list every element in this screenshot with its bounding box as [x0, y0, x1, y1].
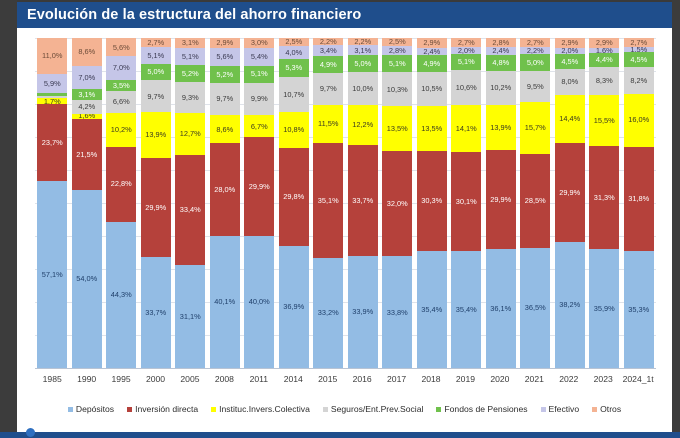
- bar-segment[interactable]: 10,0%: [348, 72, 378, 105]
- bar-column[interactable]: 2,9%2,0%4,5%8,0%14,4%29,9%38,2%: [555, 38, 585, 368]
- bar-segment-value: 5,9%: [44, 80, 61, 87]
- bar-segment[interactable]: 2,0%: [451, 47, 481, 54]
- bar-segment[interactable]: 10,2%: [486, 71, 516, 105]
- bar-segment-value: 4,4%: [596, 56, 613, 63]
- bar-segment-value: 35,4%: [456, 306, 477, 313]
- plot-inner: 11,0%5,9%1,7%23,7%57,1%8,6%7,0%3,1%4,2%1…: [35, 38, 656, 368]
- bar-segment[interactable]: 5,2%: [175, 65, 205, 82]
- bar-column[interactable]: 2,2%3,4%4,9%9,7%11,5%35,1%33,2%: [313, 38, 343, 368]
- bar-segment-value: 2,2%: [320, 38, 337, 45]
- bar-segment-value: 8,6%: [216, 126, 233, 133]
- bar-segment[interactable]: 8,3%: [589, 67, 619, 94]
- bar-segment-value: 29,8%: [283, 193, 304, 200]
- bar-segment-value: 5,0%: [354, 60, 371, 67]
- bar-column[interactable]: 2,7%2,2%5,0%9,5%15,7%28,5%36,5%: [520, 38, 550, 368]
- bar-segment[interactable]: 32,0%: [382, 151, 412, 257]
- bar-segment[interactable]: 13,5%: [417, 106, 447, 151]
- bar-segment-value: 4,5%: [630, 56, 647, 63]
- bar-segment-value: 5,4%: [251, 53, 268, 60]
- bar-segment[interactable]: 5,0%: [520, 54, 550, 70]
- bar-segment-value: 10,5%: [421, 85, 442, 92]
- bar-segment[interactable]: 10,5%: [417, 72, 447, 107]
- legend-swatch-icon: [68, 407, 73, 412]
- bar-segment[interactable]: 30,1%: [451, 152, 481, 251]
- bar-segment-value: 32,0%: [387, 200, 408, 207]
- x-axis-tick-label: 2005: [175, 374, 205, 390]
- bar-segment[interactable]: 4,0%: [279, 46, 309, 59]
- x-axis-tick-label: 2017: [382, 374, 412, 390]
- bar-segment[interactable]: 7,0%: [72, 66, 102, 89]
- bar-segment-value: 9,7%: [147, 93, 164, 100]
- stacked-bar-series: 11,0%5,9%1,7%23,7%57,1%8,6%7,0%3,1%4,2%1…: [35, 38, 656, 368]
- bar-segment[interactable]: 7,0%: [106, 56, 136, 79]
- x-axis-tick-label: 2000: [141, 374, 171, 390]
- bar-segment-value: 9,9%: [251, 95, 268, 102]
- bar-segment-value: 4,8%: [492, 59, 509, 66]
- bar-segment-value: 11,5%: [318, 120, 338, 127]
- bar-segment[interactable]: 4,5%: [555, 54, 585, 69]
- bar-segment[interactable]: 54,0%: [72, 190, 102, 368]
- bar-column[interactable]: 3,1%5,1%5,2%9,3%12,7%33,4%31,1%: [175, 38, 205, 368]
- legend-swatch-icon: [211, 407, 216, 412]
- bar-segment-value: 13,9%: [490, 124, 511, 131]
- bar-segment-value: 9,7%: [216, 95, 233, 102]
- bar-segment[interactable]: 2,2%: [348, 38, 378, 45]
- bar-segment[interactable]: 12,2%: [348, 105, 378, 145]
- bar-segment[interactable]: 9,5%: [520, 71, 550, 102]
- bar-segment-value: 54,0%: [76, 275, 97, 282]
- bar-segment-value: 10,6%: [456, 84, 477, 91]
- bar-segment-value: 33,9%: [352, 308, 373, 315]
- bar-segment-value: 30,3%: [421, 197, 442, 204]
- bar-segment[interactable]: 10,6%: [451, 70, 481, 105]
- bar-segment-value: 5,2%: [182, 70, 199, 77]
- bar-segment-value: 5,2%: [216, 71, 233, 78]
- x-axis-tick-label: 2022: [554, 374, 584, 390]
- bar-segment-value: 2,0%: [561, 48, 578, 55]
- bar-segment[interactable]: 4,9%: [313, 56, 343, 72]
- plot-area: 11,0%5,9%1,7%23,7%57,1%8,6%7,0%3,1%4,2%1…: [17, 28, 672, 368]
- x-axis-tick-label: 2008: [209, 374, 239, 390]
- bar-segment[interactable]: 4,8%: [486, 55, 516, 71]
- bar-segment[interactable]: 6,7%: [244, 115, 274, 137]
- bar-segment-value: 2,5%: [285, 38, 302, 45]
- bar-column[interactable]: 8,6%7,0%3,1%4,2%1,6%21,5%54,0%: [72, 38, 102, 368]
- bar-segment-value: 44,3%: [111, 291, 132, 298]
- bar-segment-value: 29,9%: [490, 196, 511, 203]
- bar-segment[interactable]: 2,9%: [589, 38, 619, 48]
- bar-segment[interactable]: 38,2%: [555, 242, 585, 368]
- bar-segment[interactable]: 2,9%: [210, 38, 240, 48]
- bar-segment[interactable]: 5,1%: [175, 48, 205, 65]
- legend-label: Instituc.Invers.Colectiva: [219, 404, 310, 414]
- bar-segment[interactable]: 33,4%: [175, 155, 205, 265]
- bar-segment[interactable]: 2,7%: [451, 38, 481, 47]
- bar-segment-value: 4,0%: [285, 49, 302, 56]
- bar-segment-value: 8,3%: [596, 77, 613, 84]
- bar-segment-value: 9,3%: [182, 94, 199, 101]
- bar-segment-value: 31,8%: [628, 195, 649, 202]
- bar-segment[interactable]: 21,5%: [72, 119, 102, 190]
- bar-column[interactable]: 2,7%2,0%5,1%10,6%14,1%30,1%35,4%: [451, 38, 481, 368]
- bar-segment[interactable]: 57,1%: [37, 181, 67, 368]
- bar-segment[interactable]: 5,1%: [382, 55, 412, 72]
- bar-segment-value: 21,5%: [76, 151, 97, 158]
- bar-segment[interactable]: 29,8%: [279, 148, 309, 246]
- bar-segment-value: 4,9%: [320, 61, 337, 68]
- x-axis-tick-label: 2014: [278, 374, 308, 390]
- bar-segment-value: 14,1%: [456, 125, 477, 132]
- bar-segment[interactable]: 36,1%: [486, 249, 516, 368]
- bar-segment-value: 2,9%: [596, 39, 613, 46]
- bar-segment-value: 28,5%: [525, 197, 546, 204]
- x-axis-tick-label: 2020: [485, 374, 515, 390]
- bar-segment-value: 7,0%: [113, 64, 130, 71]
- bar-segment[interactable]: 36,5%: [520, 248, 550, 368]
- bar-segment[interactable]: 29,9%: [141, 158, 171, 257]
- bar-segment[interactable]: 5,9%: [37, 74, 67, 93]
- bar-segment[interactable]: 29,9%: [244, 137, 274, 236]
- bar-segment-value: 4,2%: [78, 103, 95, 110]
- left-gutter: [0, 0, 17, 438]
- bar-segment[interactable]: 5,1%: [451, 54, 481, 71]
- bar-segment[interactable]: 2,4%: [486, 47, 516, 55]
- bar-segment-value: 2,9%: [561, 39, 578, 46]
- bar-segment-value: 12,7%: [180, 130, 201, 137]
- bar-segment[interactable]: 31,1%: [175, 265, 205, 368]
- bar-segment[interactable]: 8,6%: [72, 38, 102, 66]
- legend-item[interactable]: Depósitos: [68, 404, 114, 414]
- bar-segment-value: 4,5%: [561, 58, 578, 65]
- bar-segment[interactable]: 5,0%: [348, 55, 378, 71]
- bar-segment-value: 9,5%: [527, 83, 544, 90]
- bar-segment[interactable]: 8,2%: [624, 67, 654, 94]
- bar-segment[interactable]: 16,0%: [624, 94, 654, 147]
- legend-swatch-icon: [541, 407, 546, 412]
- bar-segment-value: 2,4%: [492, 47, 509, 54]
- bar-segment-value: 15,7%: [525, 124, 546, 131]
- bar-segment[interactable]: 2,7%: [624, 38, 654, 47]
- bar-segment[interactable]: 5,1%: [244, 66, 274, 83]
- bar-segment[interactable]: 11,0%: [37, 38, 67, 74]
- legend-item[interactable]: Fondos de Pensiones: [436, 404, 527, 414]
- right-gutter: [672, 0, 680, 438]
- bar-segment[interactable]: 3,1%: [175, 38, 205, 48]
- x-axis-tick-label: 1985: [37, 374, 67, 390]
- bar-segment-value: 35,9%: [594, 305, 615, 312]
- legend-item[interactable]: Seguros/Ent.Prev.Social: [323, 404, 424, 414]
- bar-segment-value: 2,8%: [492, 39, 509, 46]
- bar-segment[interactable]: 3,5%: [106, 80, 136, 92]
- bar-segment[interactable]: 2,9%: [417, 38, 447, 48]
- bar-column[interactable]: 2,9%1,6%4,4%8,3%15,5%31,3%35,9%: [589, 38, 619, 368]
- bar-segment-value: 5,1%: [389, 60, 406, 67]
- bar-segment[interactable]: 28,5%: [520, 154, 550, 248]
- x-axis-tick-label: 2015: [313, 374, 343, 390]
- bar-segment-value: 2,7%: [147, 39, 164, 46]
- bar-segment[interactable]: 35,9%: [589, 249, 619, 367]
- bar-segment[interactable]: 2,2%: [313, 38, 343, 45]
- bar-segment[interactable]: 10,2%: [106, 113, 136, 147]
- bar-segment-value: 15,5%: [594, 117, 615, 124]
- bar-segment[interactable]: 4,2%: [72, 100, 102, 114]
- bar-segment[interactable]: 2,7%: [520, 38, 550, 47]
- page-title: Evolución de la estructura del ahorro fi…: [27, 7, 361, 23]
- legend-item[interactable]: Efectivo: [541, 404, 580, 414]
- bar-segment[interactable]: 5,6%: [106, 38, 136, 56]
- bar-segment-value: 38,2%: [559, 301, 580, 308]
- bar-segment[interactable]: 5,0%: [141, 64, 171, 81]
- bar-segment-value: 2,4%: [423, 48, 440, 55]
- bar-segment-value: 33,2%: [318, 309, 339, 316]
- bar-segment-value: 14,4%: [559, 115, 580, 122]
- decorative-dot-icon: [26, 428, 35, 437]
- legend-item[interactable]: Instituc.Invers.Colectiva: [211, 404, 310, 414]
- bar-segment-value: 33,7%: [352, 197, 373, 204]
- x-axis-tick-label: 1995: [106, 374, 136, 390]
- bar-segment-value: 10,2%: [111, 126, 132, 133]
- bar-segment-value: 5,6%: [113, 44, 130, 51]
- bar-segment-value: 57,1%: [42, 271, 63, 278]
- bar-segment-value: 8,6%: [78, 48, 95, 55]
- bar-segment-value: 33,4%: [180, 206, 201, 213]
- slide-title-bar: Evolución de la estructura del ahorro fi…: [17, 2, 672, 28]
- bar-segment-value: 5,1%: [458, 58, 475, 65]
- bar-segment-value: 10,2%: [490, 84, 511, 91]
- bar-segment[interactable]: 33,7%: [348, 145, 378, 256]
- bar-segment[interactable]: 29,9%: [486, 150, 516, 249]
- bar-segment[interactable]: 8,6%: [210, 115, 240, 143]
- legend-label: Depósitos: [76, 404, 114, 414]
- bar-segment[interactable]: 6,6%: [106, 91, 136, 113]
- bar-segment-value: 35,3%: [628, 306, 649, 313]
- bar-segment[interactable]: 36,9%: [279, 246, 309, 368]
- bar-segment[interactable]: 5,3%: [279, 59, 309, 76]
- bar-segment[interactable]: 8,0%: [555, 69, 585, 95]
- bar-column[interactable]: 2,5%4,0%5,3%10,7%10,8%29,8%36,9%: [279, 38, 309, 368]
- bar-segment[interactable]: 3,1%: [72, 89, 102, 99]
- bar-segment[interactable]: 2,4%: [417, 48, 447, 56]
- bottom-accent-strip: [0, 432, 680, 438]
- bar-segment[interactable]: 4,9%: [417, 55, 447, 71]
- bar-segment-value: 33,8%: [387, 309, 408, 316]
- bar-segment-value: 2,2%: [527, 47, 544, 54]
- bar-segment[interactable]: 3,0%: [244, 38, 274, 48]
- bar-segment[interactable]: 23,7%: [37, 104, 67, 181]
- bar-column[interactable]: 2,8%2,4%4,8%10,2%13,9%29,9%36,1%: [486, 38, 516, 368]
- bar-segment[interactable]: 31,8%: [624, 147, 654, 252]
- bar-segment[interactable]: 9,9%: [244, 83, 274, 116]
- bar-segment-value: 6,7%: [251, 123, 268, 130]
- bar-segment[interactable]: 4,4%: [589, 53, 619, 68]
- bar-segment-value: 12,2%: [352, 121, 373, 128]
- bar-segment[interactable]: 9,7%: [313, 73, 343, 105]
- bar-segment-value: 5,1%: [182, 53, 199, 60]
- x-axis-tick-label: 1990: [72, 374, 102, 390]
- bar-segment[interactable]: 33,9%: [348, 256, 378, 368]
- x-axis-tick-label: 2024_1t: [623, 374, 654, 390]
- bar-segment-value: 3,1%: [78, 91, 95, 98]
- bar-segment[interactable]: 14,4%: [555, 95, 585, 143]
- bar-segment-value: 2,0%: [458, 47, 475, 54]
- slide-root: Evolución de la estructura del ahorro fi…: [0, 0, 680, 438]
- bar-segment-value: 8,0%: [561, 78, 578, 85]
- x-axis-tick-labels: 1985199019952000200520082011201420152016…: [35, 374, 656, 390]
- bar-segment-value: 29,9%: [145, 204, 166, 211]
- legend-swatch-icon: [436, 407, 441, 412]
- bar-segment[interactable]: 28,0%: [210, 143, 240, 235]
- legend-item[interactable]: Otros: [592, 404, 621, 414]
- bar-segment-value: 9,7%: [320, 85, 337, 92]
- bar-segment[interactable]: 29,9%: [555, 143, 585, 242]
- legend-swatch-icon: [127, 407, 132, 412]
- bar-segment[interactable]: 44,3%: [106, 222, 136, 368]
- bar-segment-value: 4,9%: [423, 60, 440, 67]
- bar-segment[interactable]: 13,9%: [141, 112, 171, 158]
- bar-segment[interactable]: 33,2%: [313, 258, 343, 368]
- bar-segment[interactable]: 33,8%: [382, 256, 412, 368]
- bar-segment-value: 2,9%: [423, 39, 440, 46]
- bar-segment-value: 13,5%: [421, 125, 442, 132]
- bar-segment[interactable]: 15,7%: [520, 102, 550, 154]
- bar-segment-value: 2,9%: [216, 39, 233, 46]
- legend-item[interactable]: Inversión directa: [127, 404, 198, 414]
- bar-column[interactable]: 2,2%3,1%5,0%10,0%12,2%33,7%33,9%: [348, 38, 378, 368]
- x-axis-tick-label: 2021: [519, 374, 549, 390]
- bar-segment[interactable]: 2,5%: [279, 38, 309, 46]
- bar-segment-value: 3,1%: [354, 47, 371, 54]
- legend-swatch-icon: [323, 407, 328, 412]
- bar-segment[interactable]: 13,9%: [486, 105, 516, 151]
- bar-segment-value: 23,7%: [42, 139, 63, 146]
- x-axis-tick-label: 2018: [416, 374, 446, 390]
- legend-label: Inversión directa: [135, 404, 198, 414]
- bar-segment[interactable]: 10,3%: [382, 72, 412, 106]
- bar-segment[interactable]: 2,2%: [520, 47, 550, 54]
- bar-segment[interactable]: 30,3%: [417, 151, 447, 251]
- bar-segment[interactable]: 3,1%: [348, 45, 378, 55]
- bar-segment-value: 40,0%: [249, 298, 270, 305]
- bar-segment[interactable]: 9,7%: [141, 80, 171, 112]
- bar-segment[interactable]: 10,7%: [279, 77, 309, 112]
- bar-segment-value: 36,1%: [490, 305, 511, 312]
- bar-segment-value: 2,7%: [458, 39, 475, 46]
- bar-column[interactable]: 5,6%7,0%3,5%6,6%10,2%22,8%44,3%: [106, 38, 136, 368]
- legend-label: Efectivo: [549, 404, 580, 414]
- bar-segment-value: 36,5%: [525, 304, 546, 311]
- bar-segment-value: 5,0%: [527, 59, 544, 66]
- bar-segment[interactable]: 10,8%: [279, 112, 309, 148]
- bar-segment[interactable]: 35,4%: [451, 251, 481, 368]
- bar-segment-value: 29,9%: [249, 183, 270, 190]
- bar-segment-value: 5,1%: [147, 52, 164, 59]
- bar-segment[interactable]: 40,0%: [244, 236, 274, 368]
- bar-column[interactable]: 2,7%5,1%5,0%9,7%13,9%29,9%33,7%: [141, 38, 171, 368]
- bar-segment[interactable]: 22,8%: [106, 147, 136, 222]
- bar-segment[interactable]: 3,4%: [313, 45, 343, 56]
- bar-segment-value: 7,0%: [78, 74, 95, 81]
- bar-segment[interactable]: 35,3%: [624, 251, 654, 367]
- bar-segment[interactable]: 4,5%: [624, 52, 654, 67]
- bar-segment-value: 3,4%: [320, 47, 337, 54]
- bar-segment-value: 10,8%: [283, 126, 304, 133]
- bar-segment-value: 3,0%: [251, 39, 268, 46]
- bar-segment[interactable]: 9,7%: [210, 83, 240, 115]
- bar-segment[interactable]: 9,3%: [175, 82, 205, 113]
- bar-segment-value: 36,9%: [283, 303, 304, 310]
- bar-segment[interactable]: 5,4%: [244, 48, 274, 66]
- x-axis-tick-label: 2011: [244, 374, 274, 390]
- bar-segment-value: 31,3%: [594, 194, 615, 201]
- bar-segment-value: 2,7%: [527, 39, 544, 46]
- x-axis-tick-label: 2023: [588, 374, 618, 390]
- x-axis-line: [35, 368, 656, 369]
- bar-segment-value: 2,8%: [389, 47, 406, 54]
- bar-segment[interactable]: 2,8%: [486, 38, 516, 47]
- bar-segment-value: 33,7%: [145, 309, 166, 316]
- bar-segment[interactable]: 35,4%: [417, 251, 447, 368]
- bar-segment[interactable]: 2,0%: [555, 48, 585, 55]
- bar-segment[interactable]: 40,1%: [210, 236, 240, 368]
- bar-column[interactable]: 3,0%5,4%5,1%9,9%6,7%29,9%40,0%: [244, 38, 274, 368]
- bar-segment[interactable]: 31,3%: [589, 146, 619, 249]
- bar-segment-value: 2,2%: [354, 38, 371, 45]
- chart-legend: DepósitosInversión directaInstituc.Inver…: [17, 400, 672, 418]
- bar-segment-value: 6,6%: [113, 98, 130, 105]
- bar-segment-value: 11,0%: [42, 52, 62, 59]
- bar-segment-value: 13,5%: [387, 125, 408, 132]
- bar-column[interactable]: 11,0%5,9%1,7%23,7%57,1%: [37, 38, 67, 368]
- bar-segment[interactable]: 13,5%: [382, 106, 412, 151]
- bar-segment[interactable]: 11,5%: [313, 105, 343, 143]
- bar-segment-value: 5,0%: [147, 68, 164, 75]
- bar-segment[interactable]: 35,1%: [313, 143, 343, 259]
- legend-swatch-icon: [592, 407, 597, 412]
- bar-segment-value: 35,4%: [421, 306, 442, 313]
- bar-column[interactable]: 2,9%5,6%5,2%9,7%8,6%28,0%40,1%: [210, 38, 240, 368]
- bar-segment[interactable]: 2,5%: [382, 38, 412, 46]
- bar-segment-value: 22,8%: [111, 180, 132, 187]
- bar-segment-value: 8,2%: [630, 77, 647, 84]
- bar-column[interactable]: 2,5%2,8%5,1%10,3%13,5%32,0%33,8%: [382, 38, 412, 368]
- bar-segment[interactable]: 5,1%: [141, 47, 171, 64]
- bar-segment-value: 5,3%: [285, 64, 302, 71]
- bar-column[interactable]: 2,9%2,4%4,9%10,5%13,5%30,3%35,4%: [417, 38, 447, 368]
- bar-segment-value: 5,1%: [251, 70, 268, 77]
- bar-segment-value: 3,5%: [113, 82, 130, 89]
- bar-segment[interactable]: 5,6%: [210, 48, 240, 66]
- bar-segment-value: 28,0%: [214, 186, 235, 193]
- bar-segment[interactable]: 2,7%: [141, 38, 171, 47]
- bar-segment[interactable]: 15,5%: [589, 95, 619, 146]
- bar-segment-value: 16,0%: [628, 116, 649, 123]
- bar-column[interactable]: 2,7%1,5%4,5%8,2%16,0%31,8%35,3%: [624, 38, 654, 368]
- bar-segment[interactable]: 33,7%: [141, 257, 171, 368]
- bar-segment-value: 2,7%: [630, 39, 647, 46]
- bar-segment-value: 5,6%: [216, 53, 233, 60]
- bar-segment-value: 3,1%: [182, 39, 199, 46]
- bar-segment[interactable]: 5,2%: [210, 66, 240, 83]
- bar-segment[interactable]: 14,1%: [451, 105, 481, 152]
- bar-segment-value: 30,1%: [456, 198, 477, 205]
- legend-label: Seguros/Ent.Prev.Social: [331, 404, 424, 414]
- bar-segment-value: 35,1%: [318, 197, 339, 204]
- bar-segment-value: 10,0%: [352, 85, 373, 92]
- legend-label: Fondos de Pensiones: [444, 404, 527, 414]
- bar-segment[interactable]: 12,7%: [175, 113, 205, 155]
- bar-segment[interactable]: 2,8%: [382, 46, 412, 55]
- bar-segment[interactable]: 2,9%: [555, 38, 585, 48]
